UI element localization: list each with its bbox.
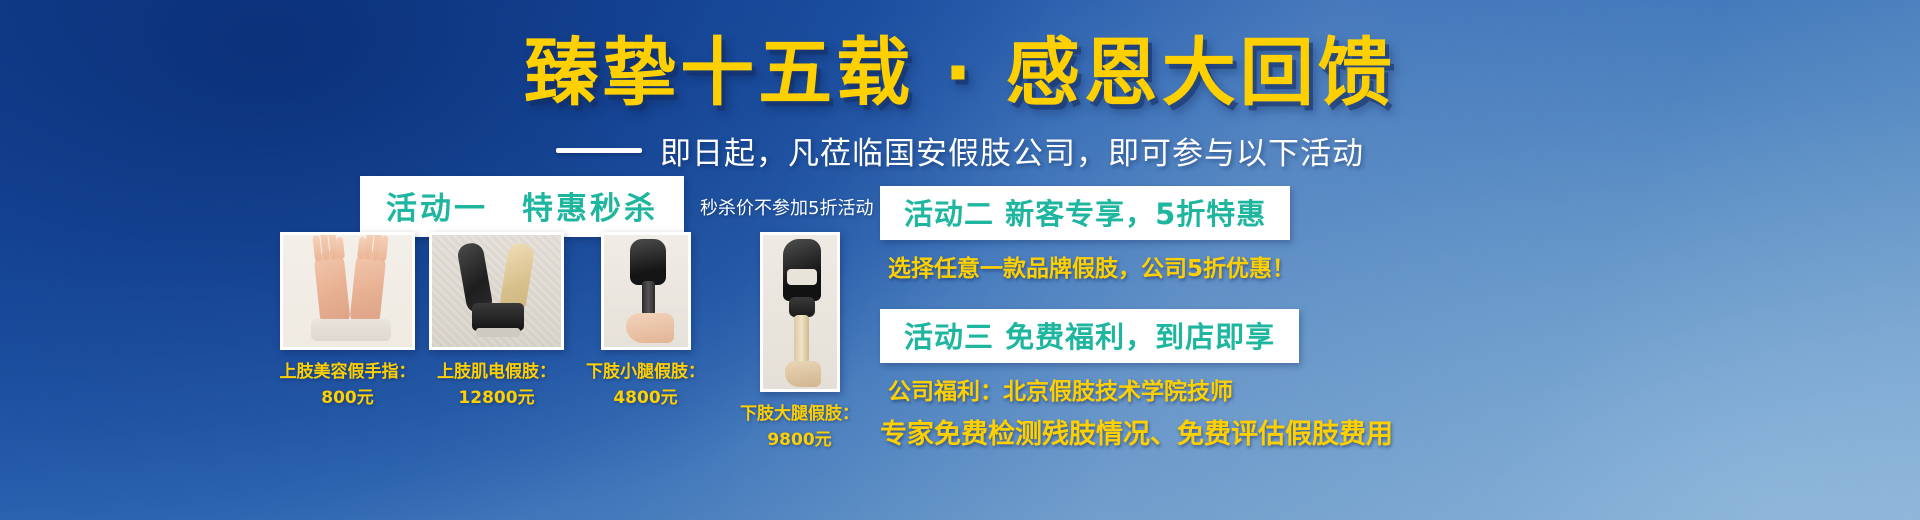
- page-title: 臻挚十五载 · 感恩大回馈: [0, 36, 1920, 110]
- product-item[interactable]: 下肢小腿假肢： 4800元: [578, 232, 713, 412]
- subtitle-row: 即日起，凡莅临国安假肢公司，即可参与以下活动: [0, 128, 1920, 173]
- activities-right-column: 活动二 新客专享，5折特惠 选择任意一款品牌假肢，公司5折优惠！ 活动三 免费福…: [880, 186, 1880, 455]
- product-caption: 上肢肌电假肢： 12800元: [437, 359, 556, 412]
- activity-two-detail: 选择任意一款品牌假肢，公司5折优惠！: [888, 249, 1880, 283]
- activity-one-header: 活动一 特惠秒杀 秒杀价不参加5折活动: [360, 176, 873, 237]
- above-knee-leg-photo: [760, 232, 840, 392]
- product-item[interactable]: 上肢美容假手指： 800元: [280, 232, 415, 412]
- product-list: 上肢美容假手指： 800元 上肢肌电假肢： 12800元: [280, 232, 872, 454]
- dash-divider-icon: [556, 148, 642, 153]
- product-item[interactable]: 下肢大腿假肢： 9800元: [727, 232, 872, 454]
- promo-banner: 臻挚十五载 · 感恩大回馈 即日起，凡莅临国安假肢公司，即可参与以下活动 活动一…: [0, 0, 1920, 520]
- activity-three-chip: 活动三 免费福利，到店即享: [880, 309, 1299, 363]
- myoelectric-arm-photo: [429, 232, 564, 350]
- cosmetic-hands-photo: [280, 232, 415, 350]
- activity-three-block: 活动三 免费福利，到店即享 公司福利：北京假肢技术学院技师 专家免费检测残肢情况…: [880, 309, 1880, 451]
- product-caption: 下肢大腿假肢： 9800元: [740, 401, 859, 454]
- product-item[interactable]: 上肢肌电假肢： 12800元: [429, 232, 564, 412]
- activity-one-chip: 活动一 特惠秒杀: [360, 176, 684, 237]
- product-name: 上肢肌电假肢：: [437, 359, 556, 385]
- product-caption: 上肢美容假手指： 800元: [280, 359, 416, 412]
- product-name: 上肢美容假手指：: [280, 359, 416, 385]
- product-price: 800元: [280, 385, 416, 411]
- activity-two-block: 活动二 新客专享，5折特惠 选择任意一款品牌假肢，公司5折优惠！: [880, 186, 1880, 283]
- product-name: 下肢小腿假肢：: [586, 359, 705, 385]
- activity-three-detail-line-1: 公司福利：北京假肢技术学院技师: [888, 372, 1880, 406]
- activity-one-note: 秒杀价不参加5折活动: [700, 194, 873, 220]
- product-price: 9800元: [740, 427, 859, 453]
- product-price: 12800元: [437, 385, 556, 411]
- activity-two-chip: 活动二 新客专享，5折特惠: [880, 186, 1290, 240]
- below-knee-leg-photo: [601, 232, 691, 350]
- product-caption: 下肢小腿假肢： 4800元: [586, 359, 705, 412]
- subtitle-text: 即日起，凡莅临国安假肢公司，即可参与以下活动: [660, 128, 1364, 173]
- product-price: 4800元: [586, 385, 705, 411]
- activity-three-detail-line-2: 专家免费检测残肢情况、免费评估假肢费用: [880, 412, 1880, 451]
- product-name: 下肢大腿假肢：: [740, 401, 859, 427]
